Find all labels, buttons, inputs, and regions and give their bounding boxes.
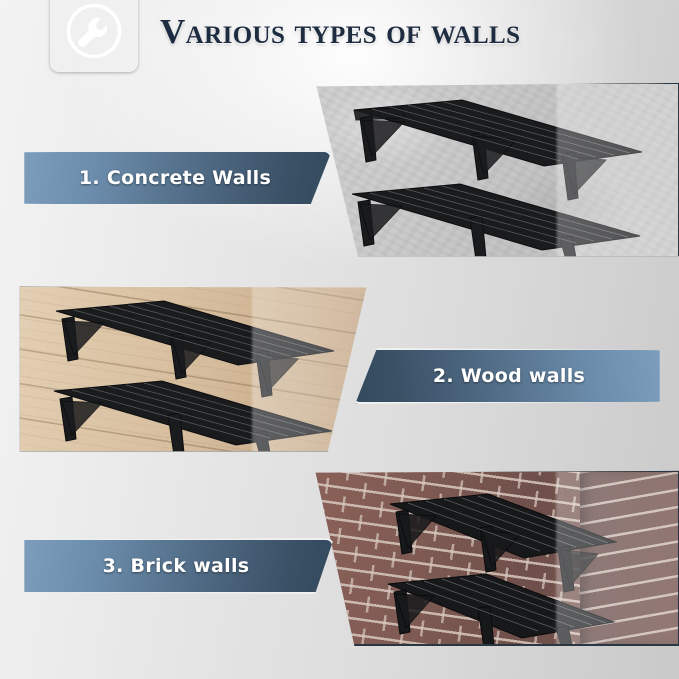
wall-shelves-concrete <box>312 82 679 258</box>
label-banner-concrete[interactable]: 1. Concrete Walls <box>18 150 332 206</box>
wall-shelves-wood <box>18 285 370 453</box>
photo-panel-wood <box>18 285 370 453</box>
wrench-icon <box>63 0 125 62</box>
logo-badge <box>50 0 138 72</box>
label-banner-wood[interactable]: 2. Wood walls <box>352 348 666 404</box>
label-banner-brick[interactable]: 3. Brick walls <box>18 538 334 594</box>
infographic-page: Various types of walls <box>0 0 679 679</box>
header: Various types of walls <box>0 0 679 82</box>
page-title: Various types of walls <box>160 12 520 52</box>
label-text-concrete: 1. Concrete Walls <box>79 167 271 189</box>
label-text-wood: 2. Wood walls <box>433 365 585 387</box>
label-text-brick: 3. Brick walls <box>103 555 250 577</box>
photo-panel-concrete <box>312 82 679 258</box>
wall-shelves-brick <box>310 470 679 646</box>
photo-panel-brick <box>310 470 679 646</box>
